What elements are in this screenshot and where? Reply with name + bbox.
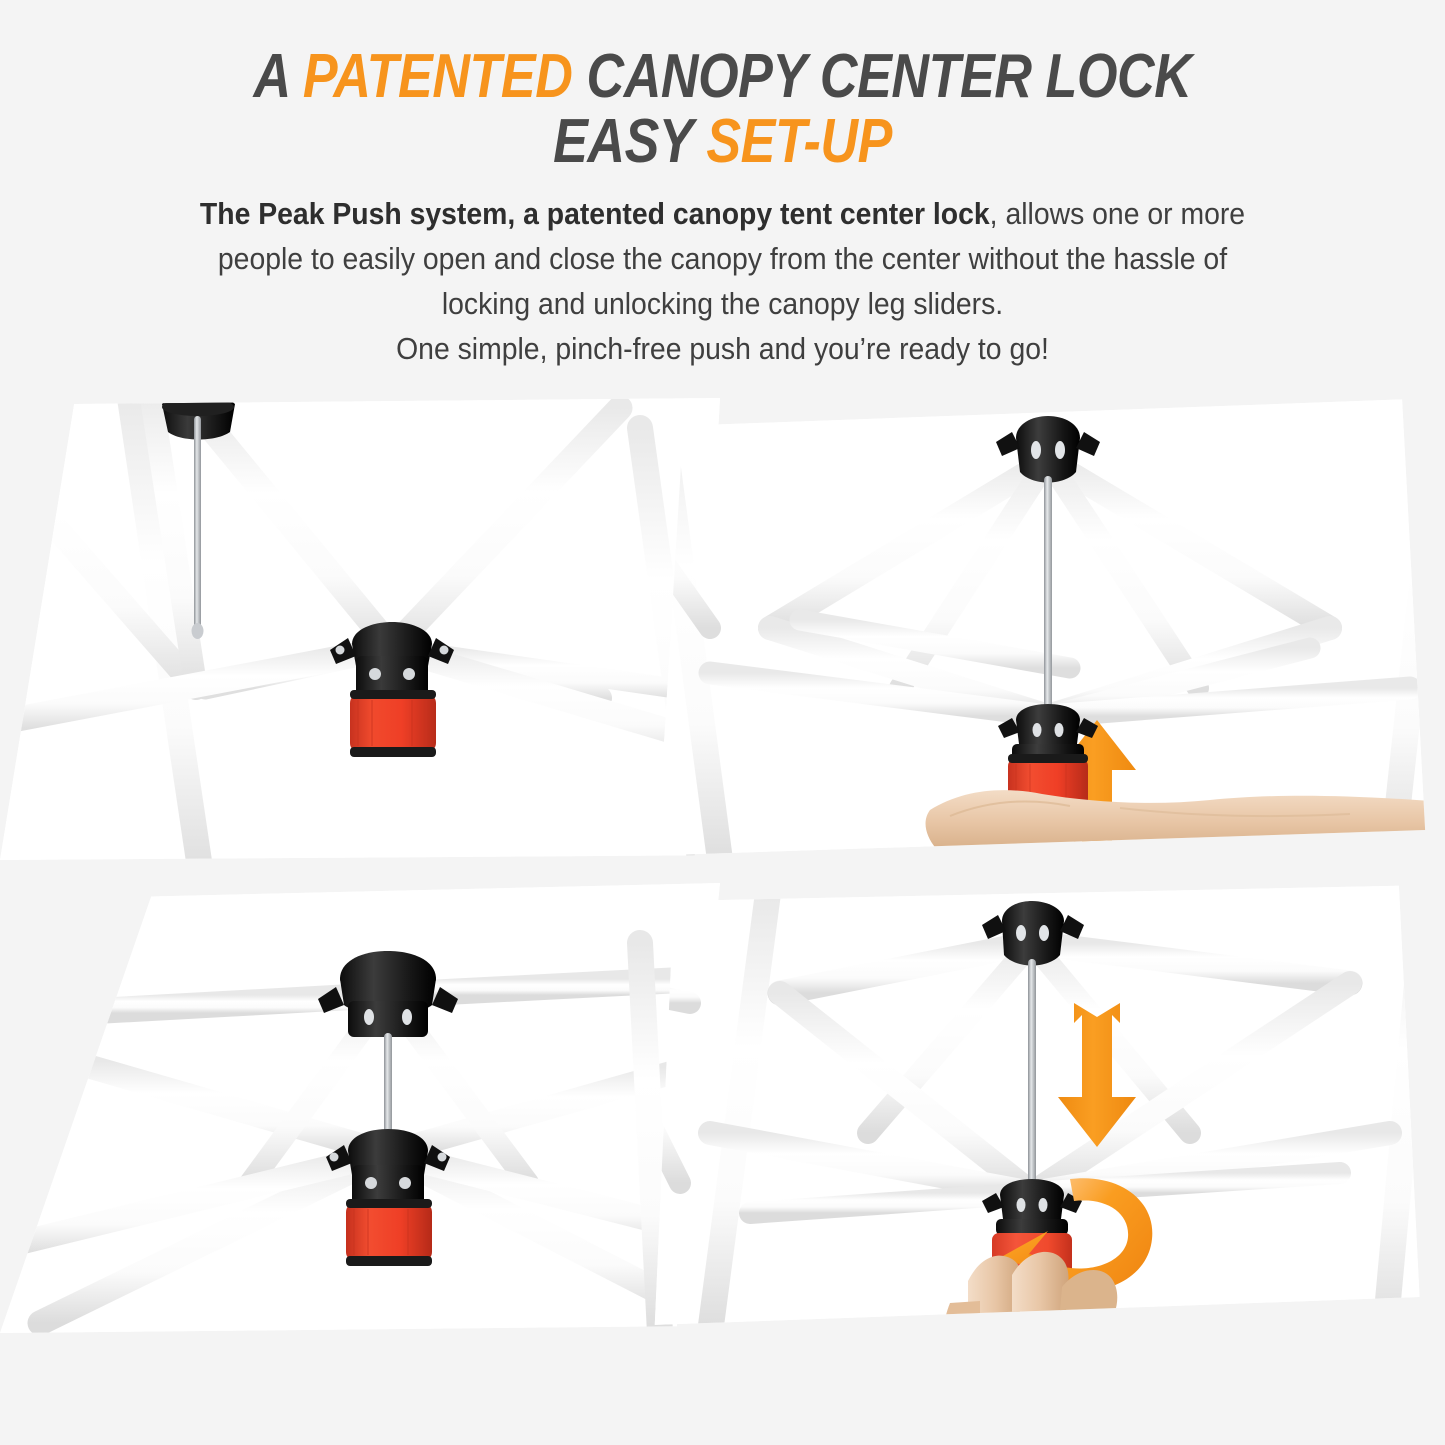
description-line-3: locking and unlocking the canopy leg sli… — [125, 282, 1320, 327]
push-rod — [194, 416, 201, 630]
description-line-1: The Peak Push system, a patented canopy … — [125, 192, 1320, 237]
panel-bottom-right-photo — [650, 883, 1445, 1333]
panel-bottom-left — [0, 883, 720, 1333]
headline-line-1: A PATENTED CANOPY CENTER LOCK — [116, 44, 1330, 109]
panel-top-right — [650, 398, 1445, 860]
headline-line-2: EASY SET-UP — [116, 109, 1330, 174]
red-hub-collar — [346, 1203, 432, 1261]
panel-bottom-left-photo — [0, 883, 720, 1333]
headline-highlight-setup: SET-UP — [706, 107, 892, 176]
push-rod — [1028, 959, 1036, 1189]
push-rod — [384, 1033, 392, 1145]
panel-top-right-photo — [650, 398, 1445, 860]
frame-illustration-closed — [0, 398, 720, 860]
page-title: A PATENTED CANOPY CENTER LOCK EASY SET-U… — [116, 44, 1330, 174]
headline-suffix: CANOPY CENTER LOCK — [572, 42, 1191, 111]
infographic-page: A PATENTED CANOPY CENTER LOCK EASY SET-U… — [0, 0, 1445, 1445]
red-hub-collar — [350, 694, 436, 752]
description-line-4: One simple, pinch-free push and you’re r… — [125, 327, 1320, 372]
push-rod — [1044, 476, 1052, 714]
description-lead-bold: The Peak Push system, a patented canopy … — [200, 197, 990, 231]
description-line-1-rest: , allows one or more — [990, 197, 1245, 231]
description-line-2: people to easily open and close the cano… — [125, 237, 1320, 282]
frame-illustration-collapsed — [0, 883, 720, 1333]
frame-illustration-push-up — [650, 398, 1445, 860]
panel-top-left-photo — [0, 398, 720, 860]
headline-prefix: A — [254, 42, 303, 111]
headline-easy: EASY — [553, 107, 706, 176]
panel-top-left — [0, 398, 720, 860]
frame-illustration-twist-down — [650, 883, 1445, 1333]
photo-grid — [0, 398, 1445, 1358]
headline-highlight-patented: PATENTED — [303, 42, 573, 111]
description-text: The Peak Push system, a patented canopy … — [125, 192, 1320, 372]
panel-bottom-right — [650, 883, 1445, 1333]
